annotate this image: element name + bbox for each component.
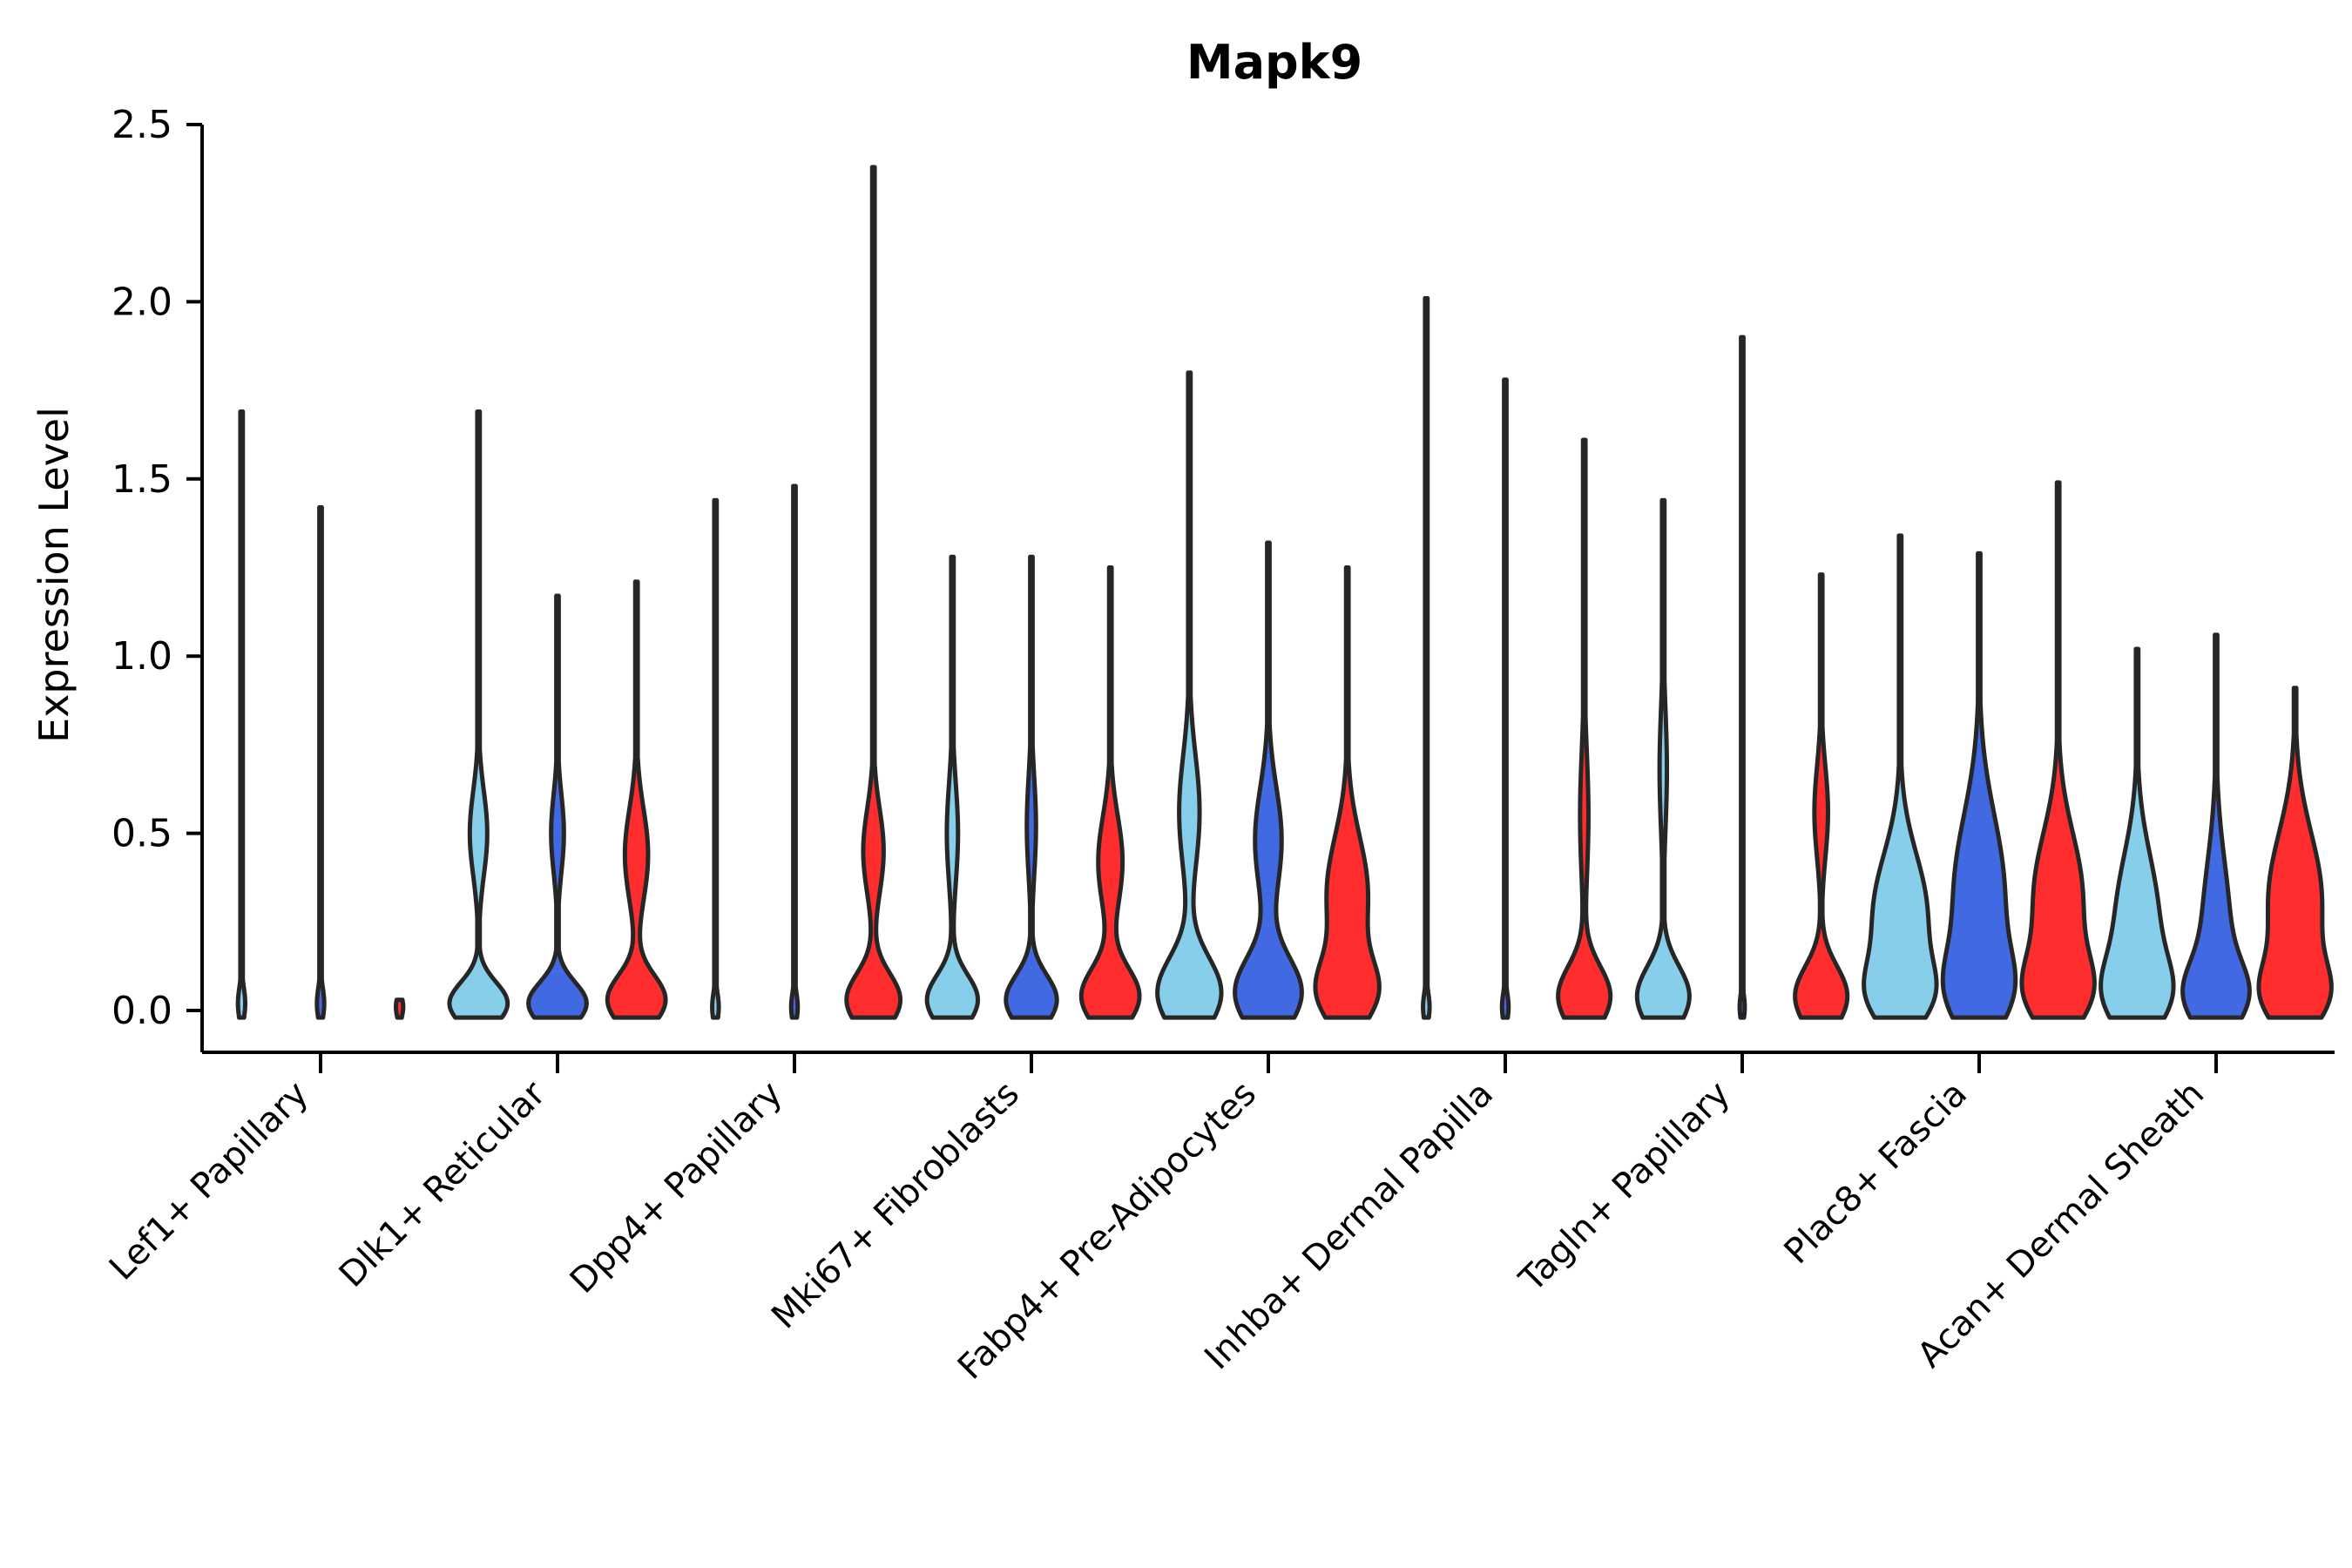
violin-shape[interactable] (1006, 557, 1057, 1017)
violin-shape[interactable] (1081, 568, 1139, 1018)
violin-shape[interactable] (449, 412, 508, 1018)
violin-shape[interactable] (1864, 536, 1936, 1017)
y-tick-label: 0.0 (112, 989, 172, 1033)
title-group: Mapk9 (1186, 35, 1362, 90)
violin-shape[interactable] (1502, 380, 1509, 1017)
violin-shape[interactable] (1943, 553, 2015, 1017)
violin-shape[interactable] (1740, 337, 1745, 1017)
violin-shape[interactable] (2022, 483, 2094, 1017)
x-tick-label: Dpp4+ Papillary (563, 1074, 790, 1301)
x-tick-label: Mki67+ Fibroblasts (764, 1074, 1027, 1337)
violin-shape[interactable] (1795, 575, 1848, 1018)
violin-shape[interactable] (1558, 440, 1611, 1017)
x-tick-label: Tagln+ Papillary (1511, 1074, 1738, 1301)
violin-shape[interactable] (607, 582, 666, 1017)
violin-shape[interactable] (529, 596, 587, 1017)
violin-plot-figure: Mapk9 Expression Level 0.00.51.01.52.02.… (0, 0, 2352, 1568)
violin-shape[interactable] (2101, 649, 2173, 1017)
y-tick-label: 2.5 (112, 103, 172, 147)
violin-shape[interactable] (2259, 688, 2331, 1017)
violin-shape[interactable] (713, 500, 720, 1017)
x-tick-label: Plac8+ Fascia (1777, 1074, 1976, 1273)
x-axis-ticks: Lef1+ PapillaryDlk1+ ReticularDpp4+ Papi… (102, 1052, 2216, 1388)
violin-shape[interactable] (1423, 298, 1430, 1017)
y-tick-label: 2.0 (112, 280, 172, 324)
y-axis-title: Expression Level (30, 407, 78, 743)
violin-shape[interactable] (1315, 568, 1379, 1018)
violin-shape[interactable] (238, 412, 245, 1018)
x-tick-label: Lef1+ Papillary (102, 1074, 316, 1288)
violin-shape[interactable] (1235, 543, 1302, 1017)
violin-shape[interactable] (1637, 500, 1689, 1017)
violins-layer (238, 167, 2331, 1017)
violin-shape[interactable] (396, 1000, 403, 1017)
violin-shape[interactable] (791, 486, 798, 1017)
y-tick-label: 0.5 (112, 812, 172, 856)
violin-shape[interactable] (2183, 635, 2250, 1017)
plot-canvas: Mapk9 Expression Level 0.00.51.01.52.02.… (0, 0, 2352, 1568)
violin-shape[interactable] (1158, 373, 1221, 1017)
y-axis-ticks: 0.00.51.01.52.02.5 (112, 103, 202, 1033)
violin-shape[interactable] (317, 507, 324, 1017)
y-axis-title-group: Expression Level (30, 407, 78, 743)
page-title: Mapk9 (1186, 35, 1362, 90)
x-tick-label: Dlk1+ Reticular (332, 1073, 554, 1295)
y-tick-label: 1.5 (112, 457, 172, 502)
y-tick-label: 1.0 (112, 634, 172, 679)
violin-shape[interactable] (927, 557, 977, 1017)
violin-shape[interactable] (847, 167, 901, 1017)
